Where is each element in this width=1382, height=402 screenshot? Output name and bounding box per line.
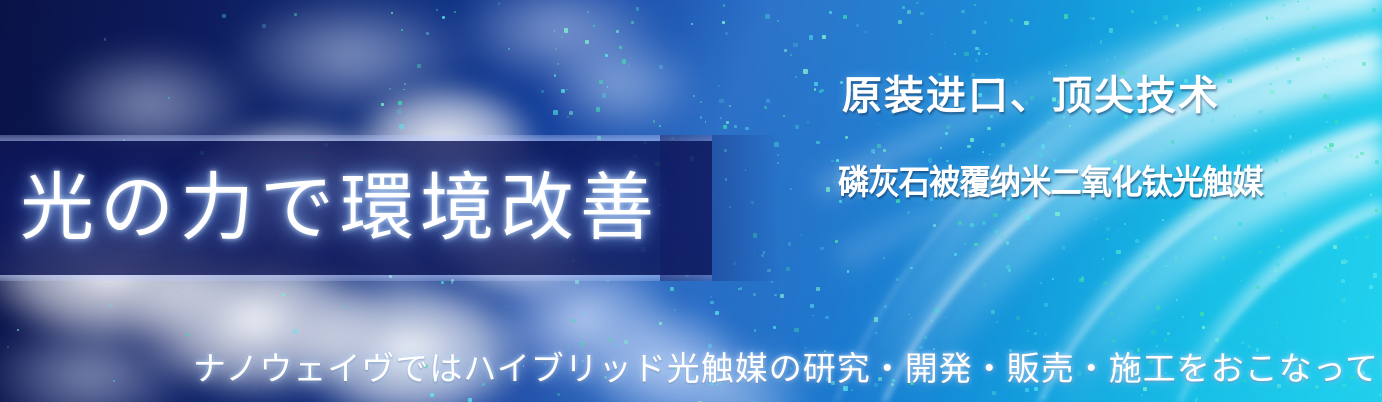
headline-japanese-main: 光の力で環境改善 (20, 160, 660, 256)
promo-line-1: 原装进口、顶尖技术 (842, 72, 1220, 120)
tagline-japanese: ナノウェイヴではハイブリッド光触媒の研究・開発・販売・施工をおこなっています (193, 348, 1382, 390)
promo-line-2: 磷灰石被覆纳米二氧化钛光触媒 (838, 162, 1263, 204)
hero-banner: 光の力で環境改善 原装进口、顶尖技术 磷灰石被覆纳米二氧化钛光触媒 ナノウェイヴ… (0, 0, 1382, 402)
